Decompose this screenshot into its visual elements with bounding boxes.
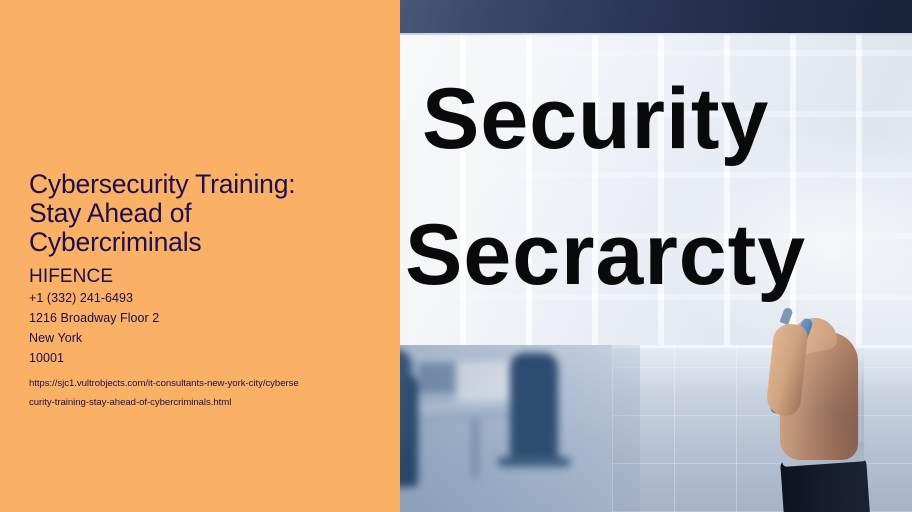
photo-panel: Security Secrarcty <box>400 0 912 512</box>
board-word-security: Security <box>422 76 769 162</box>
address-city: New York <box>29 328 379 348</box>
source-url-line-2: curity-training-stay-ahead-of-cybercrimi… <box>29 393 379 412</box>
source-url[interactable]: https://sjc1.vultrobjects.com/it-consult… <box>29 374 379 412</box>
blue-color-tint <box>400 345 640 512</box>
ceiling-band <box>400 0 912 34</box>
page-title: Cybersecurity Training: Stay Ahead of Cy… <box>29 170 379 257</box>
address-street: 1216 Broadway Floor 2 <box>29 308 379 328</box>
company-name: HIFENCE <box>29 266 379 288</box>
slide-canvas: Cybersecurity Training: Stay Ahead of Cy… <box>0 0 912 512</box>
left-info-panel: Cybersecurity Training: Stay Ahead of Cy… <box>0 0 400 512</box>
phone-number: +1 (332) 241-6493 <box>29 288 379 308</box>
address-zip: 10001 <box>29 348 379 368</box>
text-block: Cybersecurity Training: Stay Ahead of Cy… <box>29 170 379 412</box>
marker-tip <box>780 307 794 325</box>
source-url-line-1: https://sjc1.vultrobjects.com/it-consult… <box>29 374 379 393</box>
writing-hand <box>758 306 868 512</box>
hand-shadow <box>776 336 864 466</box>
board-word-secrarcty: Secrarcty <box>405 212 806 298</box>
